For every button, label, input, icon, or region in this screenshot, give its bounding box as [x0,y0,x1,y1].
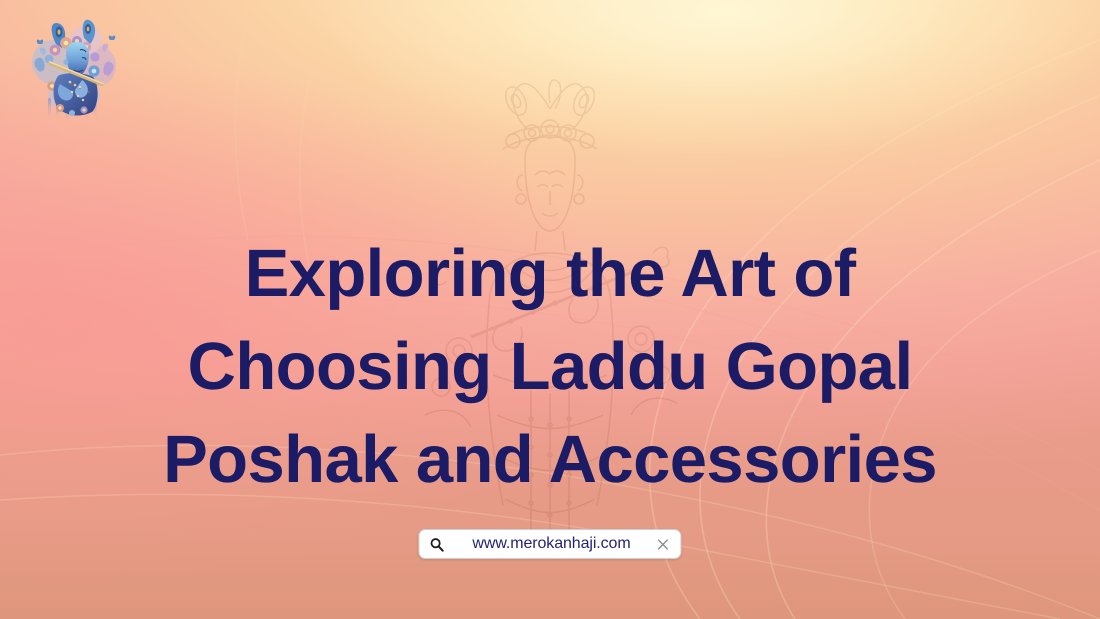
headline-line-3: Poshak and Accessories [70,413,1030,506]
krishna-logo-icon [22,14,126,122]
close-icon[interactable] [657,538,670,551]
search-icon[interactable] [429,537,444,552]
brand-logo[interactable] [22,14,126,122]
headline-line-2: Choosing Laddu Gopal [70,320,1030,413]
url-search-bar[interactable]: www.merokanhaji.com [418,529,681,559]
page-title: Exploring the Art of Choosing Laddu Gopa… [0,227,1100,506]
headline-line-1: Exploring the Art of [70,227,1030,320]
blog-banner: Exploring the Art of Choosing Laddu Gopa… [0,0,1100,619]
url-text[interactable]: www.merokanhaji.com [448,535,656,553]
